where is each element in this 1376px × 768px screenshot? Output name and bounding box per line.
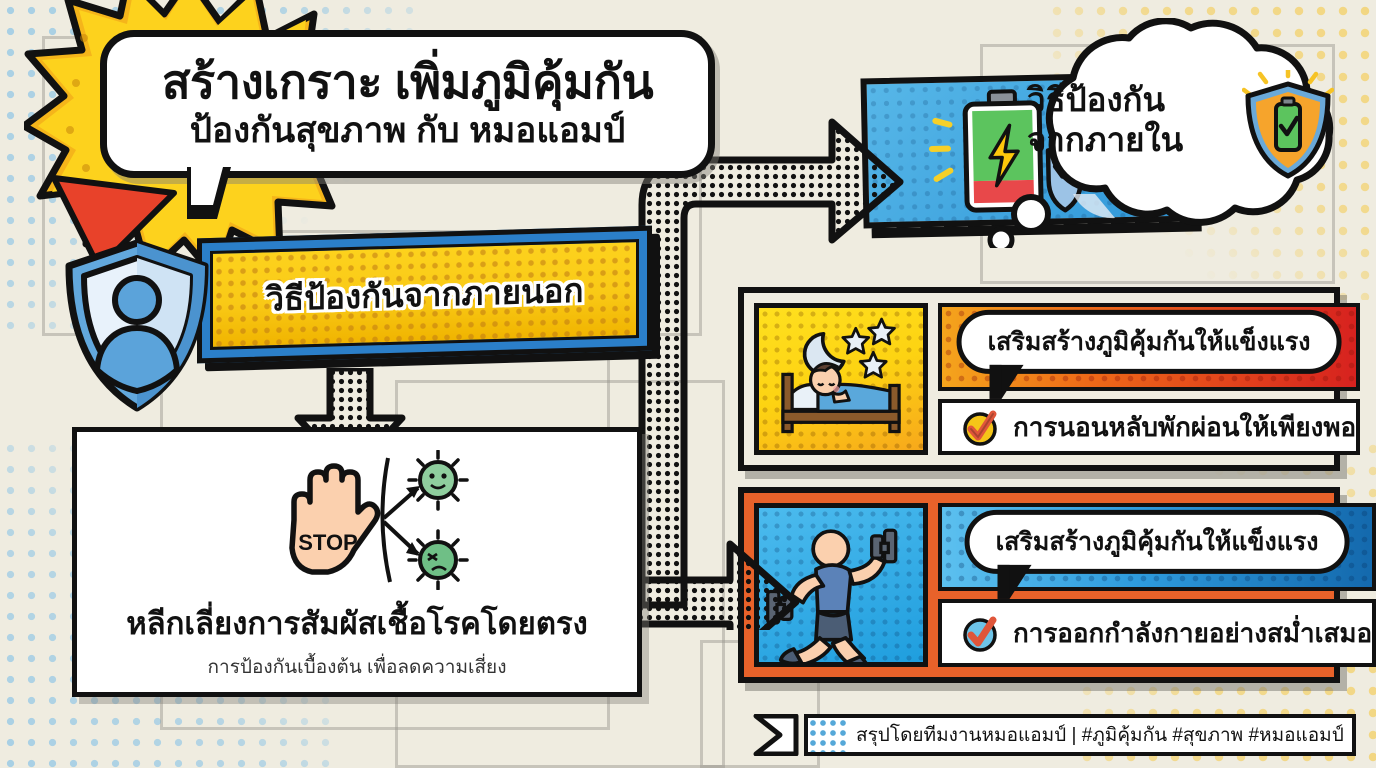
bubble-tail-inner bbox=[191, 167, 223, 205]
exercise-caption-text: การออกกำลังกายอย่างสม่ำเสมอ bbox=[1013, 613, 1372, 654]
external-protection-banner: วิธีป้องกันจากภายนอก bbox=[55, 232, 640, 380]
internal-thought-cloud: วิธีป้องกัน จากภายใน bbox=[975, 18, 1370, 248]
sleep-bubble-text: เสริมสร้างภูมิคุ้มกันให้แข็งแรง bbox=[988, 328, 1311, 356]
banner-body: วิธีป้องกันจากภายนอก bbox=[197, 226, 652, 364]
avoid-contact-heading: หลีกเลี่ยงการสัมผัสเชื้อโรคโดยตรง bbox=[126, 598, 588, 648]
sleep-caption-text: การนอนหลับพักผ่อนให้เพียงพอ bbox=[1013, 407, 1356, 448]
footer-text: สรุปโดยทีมงานหมอแอมป์ | #ภูมิคุ้มกัน #สุ… bbox=[822, 720, 1344, 750]
stop-hand-icon: STOP bbox=[242, 450, 472, 590]
banner-inner: วิธีป้องกันจากภายนอก bbox=[210, 239, 639, 350]
virus-icon bbox=[409, 451, 467, 509]
banner-label: วิธีป้องกันจากภายนอก bbox=[266, 264, 584, 326]
shield-person-icon bbox=[55, 238, 220, 413]
footer-ribbon: สรุปโดยทีมงานหมอแอมป์ | #ภูมิคุ้มกัน #สุ… bbox=[752, 714, 1356, 756]
page-title: สร้างเกราะ เพิ่มภูมิคุ้มกัน bbox=[162, 56, 653, 108]
infographic-canvas: สร้างเกราะ เพิ่มภูมิคุ้มกัน ป้องกันสุขภา… bbox=[0, 0, 1376, 768]
cloud-line-2: จากภายใน bbox=[1027, 120, 1237, 160]
exercise-speech-bubble: เสริมสร้างภูมิคุ้มกันให้แข็งแรง bbox=[965, 510, 1350, 574]
shield-battery-icon bbox=[1242, 70, 1334, 180]
exercise-bubble-text: เสริมสร้างภูมิคุ้มกันให้แข็งแรง bbox=[996, 528, 1319, 556]
exercise-card-content: เสริมสร้างภูมิคุ้มกันให้แข็งแรง การออกกำ… bbox=[938, 503, 1376, 667]
check-badge-icon bbox=[960, 407, 1000, 447]
exercise-caption-band: การออกกำลังกายอย่างสม่ำเสมอ bbox=[938, 599, 1376, 667]
cloud-line-1: วิธีป้องกัน bbox=[1027, 80, 1237, 120]
arrow-path-icon bbox=[600, 100, 920, 630]
title-speech-bubble: สร้างเกราะ เพิ่มภูมิคุ้มกัน ป้องกันสุขภา… bbox=[100, 30, 715, 178]
avoid-contact-card: STOP bbox=[72, 427, 642, 697]
exercise-bubble-band: เสริมสร้างภูมิคุ้มกันให้แข็งแรง bbox=[938, 503, 1376, 591]
sleep-caption-band: การนอนหลับพักผ่อนให้เพียงพอ bbox=[938, 399, 1360, 455]
sleep-bubble-band: เสริมสร้างภูมิคุ้มกันให้แข็งแรง bbox=[938, 303, 1360, 391]
footer-bar: สรุปโดยทีมงานหมอแอมป์ | #ภูมิคุ้มกัน #สุ… bbox=[804, 714, 1356, 756]
virus-icon bbox=[409, 531, 467, 589]
stop-hand-label: STOP bbox=[298, 530, 358, 555]
sleep-card-content: เสริมสร้างภูมิคุ้มกันให้แข็งแรง การนอนหล… bbox=[938, 303, 1360, 455]
cloud-text: วิธีป้องกัน จากภายใน bbox=[1027, 80, 1237, 161]
check-badge-icon bbox=[960, 613, 1000, 653]
avoid-contact-subheading: การป้องกันเบื้องต้น เพื่อลดความเสี่ยง bbox=[208, 652, 507, 682]
sleep-speech-bubble: เสริมสร้างภูมิคุ้มกันให้แข็งแรง bbox=[957, 310, 1342, 374]
page-subtitle: ป้องกันสุขภาพ กับ หมอแอมป์ bbox=[190, 110, 625, 152]
